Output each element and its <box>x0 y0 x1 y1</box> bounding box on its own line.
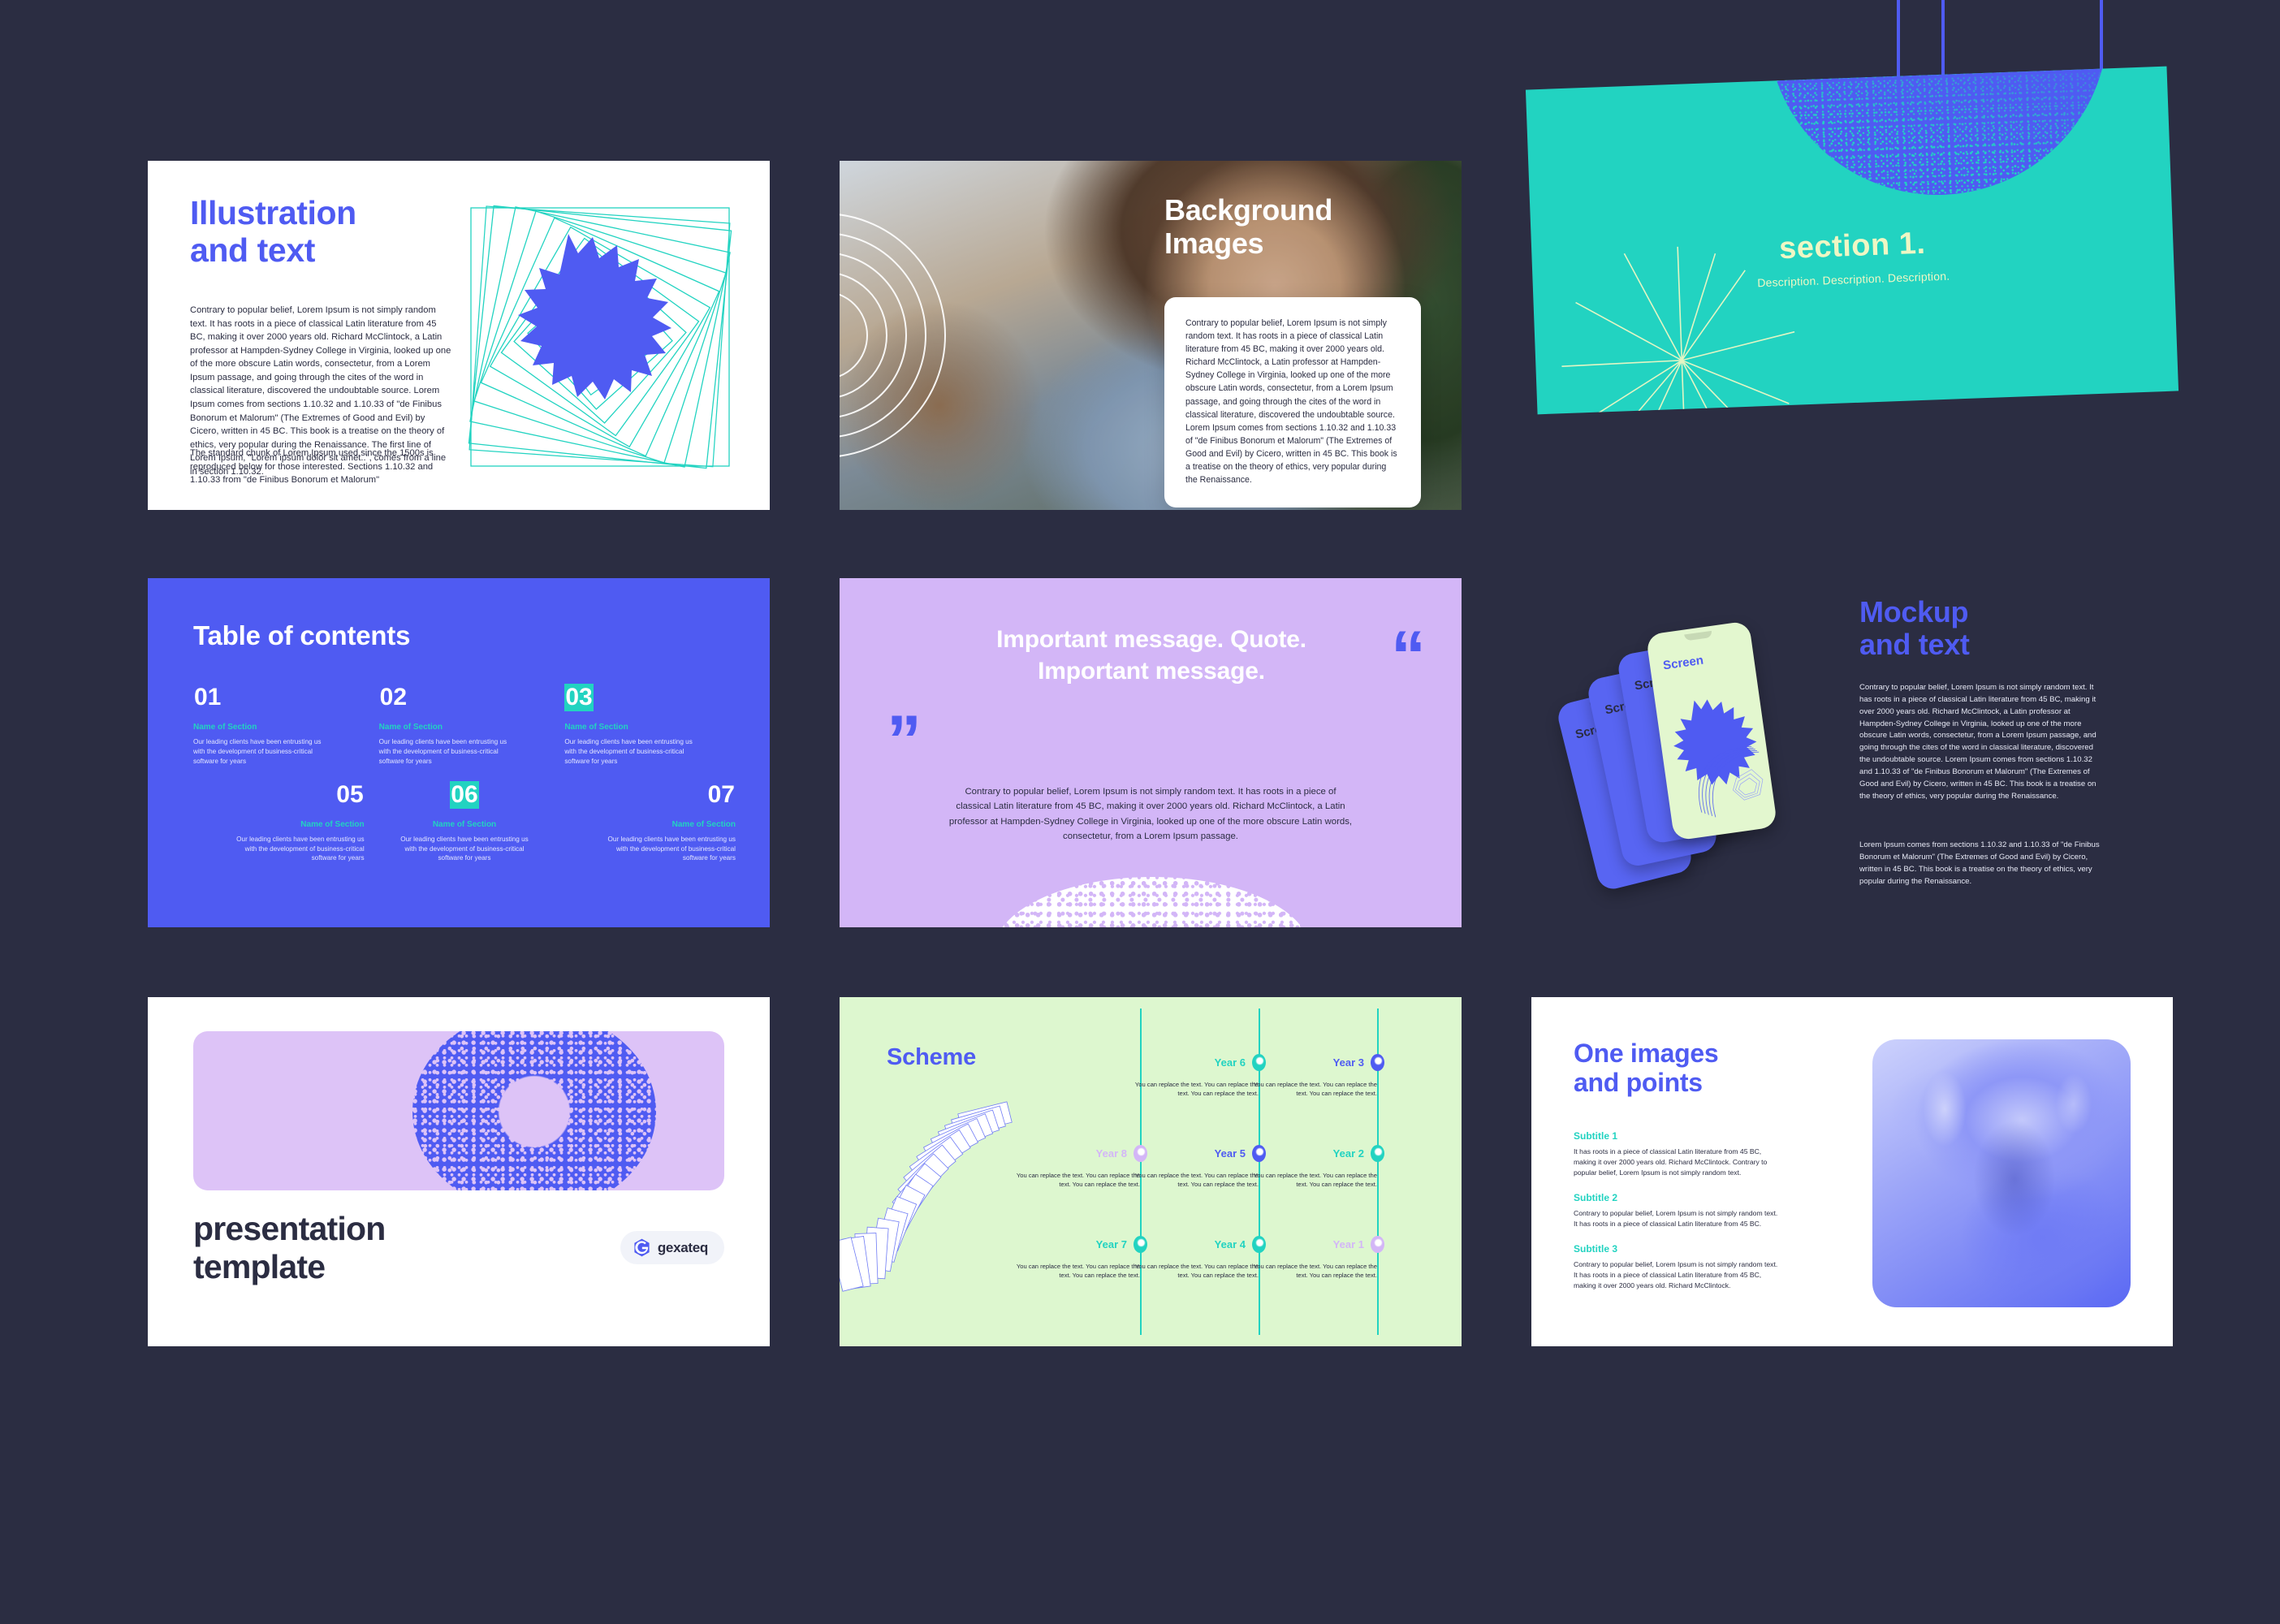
point-text: Contrary to popular belief, Lorem Ipsum … <box>1574 1208 1778 1229</box>
toc-item[interactable]: 03 Name of Section Our leading clients h… <box>564 682 736 767</box>
toc-section-name: Name of Section <box>564 723 736 732</box>
scheme-node-description: You can replace the text. You can replac… <box>1130 1080 1259 1099</box>
scheme-year-label: Year 2 <box>1333 1147 1364 1160</box>
scheme-year-label: Year 1 <box>1333 1238 1364 1250</box>
section-card: section 1. Description. Description. Des… <box>1526 67 2179 415</box>
scheme-node[interactable]: Year 5 You can replace the text. You can… <box>1130 1145 1259 1190</box>
toc-item[interactable]: 06 Name of Section Our leading clients h… <box>379 780 551 864</box>
slide-title: Illustration and text <box>190 195 356 270</box>
halftone-moon-decoration <box>1764 67 2114 201</box>
slide-illustration-and-text[interactable]: Illustration and text Contrary to popula… <box>148 161 770 510</box>
cover-banner <box>193 1031 724 1190</box>
concentric-arcs-decoration <box>840 201 1018 469</box>
slide-one-image-and-points[interactable]: One images and points Subtitle 1 It has … <box>1531 997 2173 1346</box>
scheme-node[interactable]: Year 1 You can replace the text. You can… <box>1249 1236 1377 1281</box>
toc-number: 07 <box>707 781 736 809</box>
slide-body-text-secondary: Lorem Ipsum comes from sections 1.10.32 … <box>1859 840 2103 888</box>
screen-label: Screen <box>1662 654 1704 673</box>
scheme-year-label: Year 3 <box>1333 1056 1364 1069</box>
toc-grid: 01 Name of Section Our leading clients h… <box>193 682 736 863</box>
scheme-year-label: Year 5 <box>1215 1147 1246 1160</box>
scheme-node[interactable]: Year 4 You can replace the text. You can… <box>1130 1236 1259 1281</box>
point-subtitle: Subtitle 3 <box>1574 1243 1778 1255</box>
scheme-node[interactable]: Year 3 You can replace the text. You can… <box>1249 1054 1377 1099</box>
point-text: It has roots in a piece of classical Lat… <box>1574 1147 1778 1178</box>
toc-description: Our leading clients have been entrusting… <box>395 835 533 864</box>
feature-image <box>1872 1039 2131 1307</box>
slide-important-message-quote[interactable]: “ ” Important message. Quote. Important … <box>840 578 1462 927</box>
point-block: Subtitle 2 Contrary to popular belief, L… <box>1574 1192 1778 1229</box>
scheme-node[interactable]: Year 2 You can replace the text. You can… <box>1249 1145 1377 1190</box>
textured-blob-decoration <box>994 877 1311 927</box>
quote-body-text: Contrary to popular belief, Lorem Ipsum … <box>947 784 1354 844</box>
slide-title: Background Images <box>1164 193 1432 260</box>
spiral-starburst-illustration <box>466 203 734 471</box>
scheme-node[interactable]: Year 8 You can replace the text. You can… <box>1012 1145 1140 1190</box>
scheme-year-label: Year 7 <box>1096 1238 1127 1250</box>
scheme-node[interactable]: Year 7 You can replace the text. You can… <box>1012 1236 1140 1281</box>
slide-title: Table of contents <box>193 620 410 651</box>
toc-item[interactable]: 07 Name of Section Our leading clients h… <box>564 780 736 864</box>
scheme-year-label: Year 6 <box>1215 1056 1246 1069</box>
slide-title: One images and points <box>1574 1039 1718 1098</box>
toc-section-name: Name of Section <box>379 820 551 829</box>
scheme-year-label: Year 4 <box>1215 1238 1246 1250</box>
toc-number: 05 <box>335 781 364 809</box>
slide-presentation-template-cover[interactable]: presentation template gexateq <box>148 997 770 1346</box>
point-text: Contrary to popular belief, Lorem Ipsum … <box>1574 1259 1778 1291</box>
toc-item[interactable]: 01 Name of Section Our leading clients h… <box>193 682 365 767</box>
toc-number-highlighted: 06 <box>450 781 478 809</box>
scheme-node-dot-icon <box>1371 1054 1384 1071</box>
cover-title: presentation template <box>193 1210 385 1285</box>
toc-description: Our leading clients have been entrusting… <box>564 737 702 767</box>
brand-logo-badge[interactable]: gexateq <box>620 1231 724 1264</box>
slide-deck-board: Illustration and text Contrary to popula… <box>0 0 2280 1624</box>
gexateq-logo-icon <box>633 1238 650 1257</box>
slide-body-text: Contrary to popular belief, Lorem Ipsum … <box>1859 682 2103 803</box>
toc-number: 02 <box>379 684 408 711</box>
scheme-node-description: You can replace the text. You can replac… <box>1249 1080 1377 1099</box>
toc-description: Our leading clients have been entrusting… <box>379 737 517 767</box>
point-block: Subtitle 1 It has roots in a piece of cl… <box>1574 1130 1778 1178</box>
halftone-sphere-decoration <box>412 1031 656 1190</box>
slide-body-text-secondary: The standard chunk of Lorem Ipsum used s… <box>190 447 451 487</box>
slide-title: Mockup and text <box>1859 596 1970 660</box>
toc-item[interactable]: 05 Name of Section Our leading clients h… <box>193 780 365 864</box>
toc-description: Our leading clients have been entrusting… <box>193 737 331 767</box>
scheme-node-description: You can replace the text. You can replac… <box>1012 1171 1140 1190</box>
brand-name: gexateq <box>658 1240 708 1256</box>
toc-section-name: Name of Section <box>564 820 736 829</box>
scheme-node-description: You can replace the text. You can replac… <box>1130 1262 1259 1281</box>
slide-table-of-contents[interactable]: Table of contents 01 Name of Section Our… <box>148 578 770 927</box>
toc-section-name: Name of Section <box>193 723 365 732</box>
scheme-year-label: Year 8 <box>1096 1147 1127 1160</box>
phone-notch <box>1684 631 1712 641</box>
points-list: Subtitle 1 It has roots in a piece of cl… <box>1574 1130 1778 1306</box>
phone-screen-artwork <box>1661 685 1770 831</box>
toc-item[interactable]: 02 Name of Section Our leading clients h… <box>379 682 551 767</box>
slide-title: Scheme <box>887 1044 976 1071</box>
quote-mark-open-icon: “ <box>1391 632 1426 682</box>
scheme-node-dot-icon <box>1371 1236 1384 1253</box>
scheme-node[interactable]: Year 6 You can replace the text. You can… <box>1130 1054 1259 1099</box>
scheme-node-description: You can replace the text. You can replac… <box>1130 1171 1259 1190</box>
slide-scheme-timeline[interactable]: Scheme <box>840 997 1462 1346</box>
scheme-node-dot-icon <box>1371 1145 1384 1162</box>
toc-section-name: Name of Section <box>193 820 365 829</box>
point-subtitle: Subtitle 1 <box>1574 1130 1778 1142</box>
toc-description: Our leading clients have been entrusting… <box>227 835 365 864</box>
quote-mark-close-icon: ” <box>887 716 922 767</box>
toc-number: 01 <box>193 684 222 711</box>
card-body-text: Contrary to popular belief, Lorem Ipsum … <box>1185 317 1400 486</box>
toc-description: Our leading clients have been entrusting… <box>598 835 736 864</box>
point-block: Subtitle 3 Contrary to popular belief, L… <box>1574 1243 1778 1291</box>
scheme-node-description: You can replace the text. You can replac… <box>1012 1262 1140 1281</box>
slide-section-divider[interactable]: section 1. Description. Description. Des… <box>1531 78 2173 435</box>
toc-section-name: Name of Section <box>379 723 551 732</box>
slide-background-images[interactable]: Background Images Contrary to popular be… <box>840 161 1462 510</box>
scheme-node-description: You can replace the text. You can replac… <box>1249 1262 1377 1281</box>
scheme-node-description: You can replace the text. You can replac… <box>1249 1171 1377 1190</box>
phone-mockup-stack: Screen Screen Screen Screen <box>1572 622 1840 890</box>
text-card: Contrary to popular belief, Lorem Ipsum … <box>1164 297 1421 508</box>
slide-mockup-and-text[interactable]: Screen Screen Screen Screen <box>1531 578 2173 927</box>
point-subtitle: Subtitle 2 <box>1574 1192 1778 1203</box>
quote-title: Important message. Quote. Important mess… <box>940 624 1362 687</box>
toc-number-highlighted: 03 <box>564 684 593 711</box>
